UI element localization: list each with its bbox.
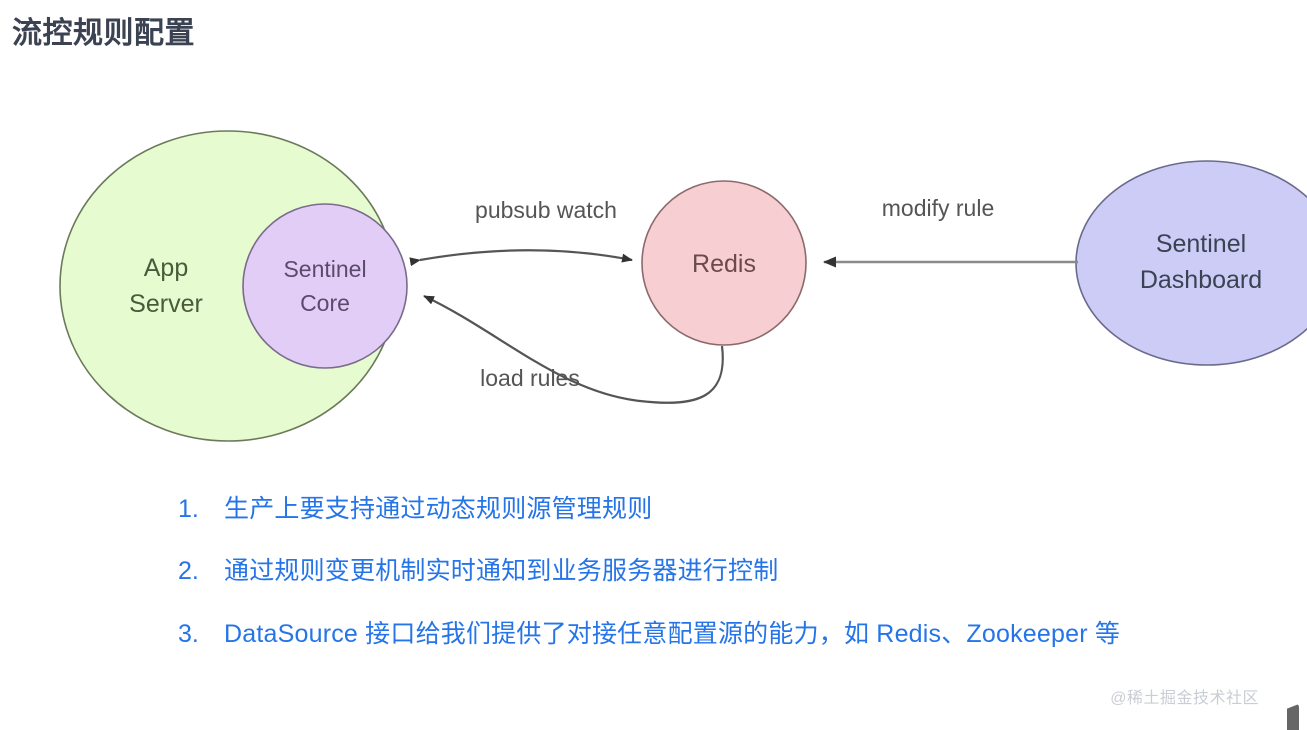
list-item: 3. DataSource 接口给我们提供了对接任意配置源的能力，如 Redis… [178, 619, 1258, 650]
edge-load-rules-label: load rules [480, 365, 580, 391]
edge-modify-rule-label: modify rule [882, 195, 994, 221]
list-item: 1. 生产上要支持通过动态规则源管理规则 [178, 494, 1258, 525]
corner-logo-mark [1287, 704, 1299, 730]
node-sentinel-dashboard-label-line1: Sentinel [1156, 230, 1246, 258]
node-sentinel-dashboard-label-line2: Dashboard [1140, 266, 1262, 294]
node-sentinel-core-label-line1: Sentinel [283, 256, 366, 282]
edge-pubsub-watch-line [420, 250, 632, 260]
node-sentinel-core-label-line2: Core [300, 290, 350, 316]
bullet-list: 1. 生产上要支持通过动态规则源管理规则 2. 通过规则变更机制实时通知到业务服… [178, 494, 1258, 681]
edge-pubsub-watch-label: pubsub watch [475, 197, 617, 223]
architecture-diagram: App Server Sentinel Core Redis Sentinel … [0, 96, 1307, 486]
node-app-server-label-line2: Server [129, 290, 203, 318]
node-app-server-label-line1: App [144, 254, 188, 282]
node-redis-label: Redis [692, 250, 756, 278]
list-item-number: 2. [178, 556, 224, 587]
list-item-number: 1. [178, 494, 224, 525]
list-item-text: 通过规则变更机制实时通知到业务服务器进行控制 [224, 556, 1258, 587]
node-sentinel-dashboard [1076, 161, 1307, 365]
list-item-number: 3. [178, 619, 224, 650]
list-item: 2. 通过规则变更机制实时通知到业务服务器进行控制 [178, 556, 1258, 587]
page-title: 流控规则配置 [12, 8, 195, 52]
node-sentinel-core [243, 204, 407, 368]
watermark: @稀土掘金技术社区 [1110, 684, 1259, 708]
list-item-text: DataSource 接口给我们提供了对接任意配置源的能力，如 Redis、Zo… [224, 619, 1258, 650]
list-item-text: 生产上要支持通过动态规则源管理规则 [224, 494, 1258, 525]
